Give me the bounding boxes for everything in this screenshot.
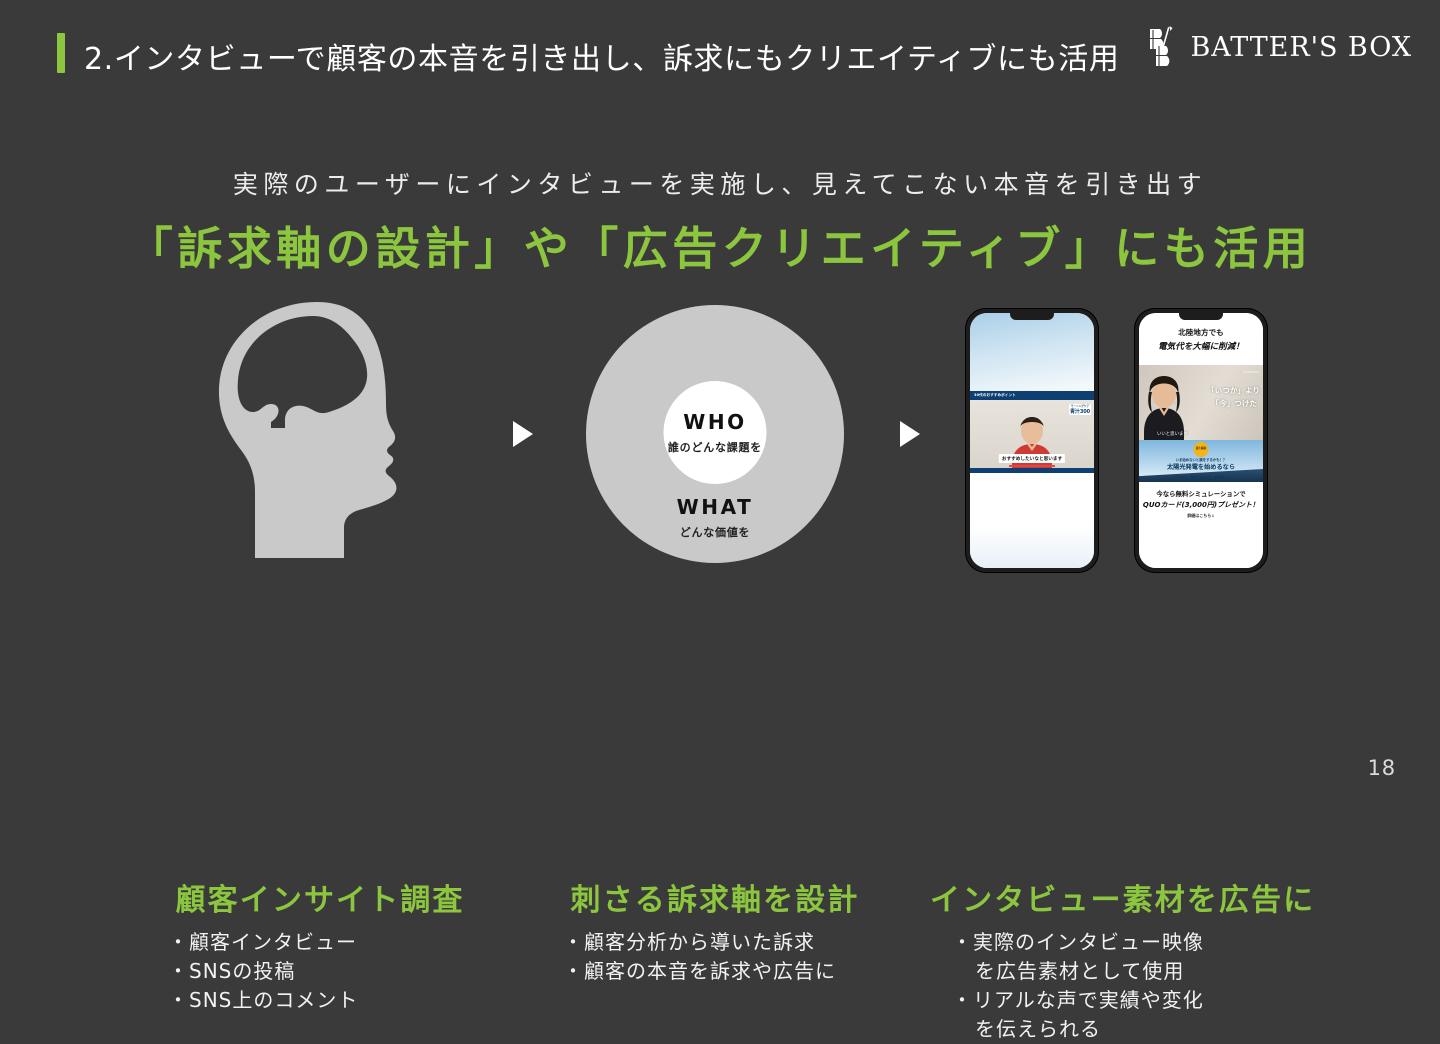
phone-mockup-interview-video: 30代のおすすめポイント モーニングケア 青汁300 おすすめしたいなと思います [965, 308, 1099, 573]
bullet-line-cont: を伝えられる [952, 1015, 1332, 1044]
list-item: ・SNS上のコメント [168, 986, 508, 1015]
phone1-person-image [1009, 414, 1055, 472]
column-customer-insight: 顧客インサイト調査 ・顧客インタビュー ・SNSの投稿 ・SNS上のコメント [150, 300, 490, 565]
what-label: WHAT [677, 495, 754, 519]
phone2-video-frame: HOKURIKU 「いつか」より 「今」つけた いいと思います [1139, 365, 1263, 440]
phone2-cta-block: 今なら無料シミュレーションで QUOカード(3,000円)プレゼント！ 詳細はこ… [1139, 482, 1263, 568]
lead-line-2: 「訴求軸の設計」や「広告クリエイティブ」にも活用 [0, 212, 1440, 277]
brand-logo-text: BATTER'S BOX [1191, 32, 1413, 63]
column3-bullet-list: ・実際のインタビュー映像 を広告素材として使用 ・リアルな声で実績や変化 を伝え… [952, 928, 1332, 1044]
phone1-subtitle-caption: おすすめしたいなと思います [999, 454, 1065, 463]
column1-heading: 顧客インサイト調査 [150, 875, 490, 919]
bullet-line: ・リアルな声で実績や変化 [952, 988, 1204, 1012]
phone2-cta-line-1: 今なら無料シミュレーションで [1156, 489, 1245, 498]
phone1-sky-background [970, 313, 1094, 401]
who-label: WHO [683, 410, 747, 434]
column2-heading: 刺さる訴求軸を設計 [545, 875, 885, 919]
bb-monogram-icon [1147, 26, 1181, 68]
phone2-notch [1179, 313, 1223, 320]
who-sublabel: 誰のどんな課題を [668, 439, 762, 455]
page-number: 18 [1368, 756, 1396, 780]
list-item: ・顧客分析から導いた訴求 [563, 928, 903, 957]
bullet-line: ・顧客インタビュー [168, 930, 357, 954]
phone1-video-frame: モーニングケア 青汁300 おすすめしたいなと思います [970, 400, 1094, 472]
play-triangle-icon [513, 421, 533, 447]
phone1-logo-bottom: 青汁300 [1070, 408, 1090, 415]
column2-visual: WHO 誰のどんな課題を WHAT どんな価値を [545, 300, 885, 565]
phone2-screen: 北陸地方でも 電気代を大幅に削減！ HOKURIKU 「いつか」より 「今」つけ… [1139, 313, 1263, 568]
list-item: ・顧客インタビュー [168, 928, 508, 957]
bullet-line-cont: を広告素材として使用 [952, 957, 1332, 986]
phone1-caption-underline [1009, 465, 1055, 468]
column1-visual [150, 300, 490, 565]
phone2-overlay-text-1: 「いつか」より [1207, 385, 1260, 396]
phone1-notch [1010, 313, 1054, 320]
list-item: ・SNSの投稿 [168, 957, 508, 986]
lead-line-1: 実際のユーザーにインタビューを実施し、見えてこない本音を引き出す [0, 165, 1440, 201]
who-what-circle: WHO 誰のどんな課題を WHAT どんな価値を [586, 305, 844, 563]
phone2-headline-2: 電気代を大幅に削減！ [1158, 340, 1244, 352]
what-sublabel: どんな価値を [677, 524, 754, 540]
bullet-line: ・顧客分析から導いた訴求 [563, 930, 815, 954]
phone2-badge: 最大補助 [1194, 442, 1209, 457]
list-item: ・リアルな声で実績や変化 を伝えられる [952, 986, 1332, 1044]
phone2-person-image [1142, 372, 1186, 440]
brand-logo: BATTER'S BOX [1147, 26, 1413, 68]
slide-header: 2.インタビューで顧客の本音を引き出し、訴求にもクリエイティブにも活用 BATT… [0, 0, 1440, 100]
list-item: ・実際のインタビュー映像 を広告素材として使用 [952, 928, 1332, 986]
slide-root: 2.インタビューで顧客の本音を引き出し、訴求にもクリエイティブにも活用 BATT… [0, 0, 1440, 810]
head-brain-icon [205, 300, 435, 562]
what-block: WHAT どんな価値を [677, 495, 754, 540]
phone2-cta-line-2: QUOカード(3,000円)プレゼント！ [1143, 500, 1259, 510]
bullet-line: ・SNSの投稿 [168, 959, 295, 983]
phone2-cta-line-3: 詳細はこちら↓ [1187, 513, 1214, 519]
column2-bullet-list: ・顧客分析から導いた訴求 ・顧客の本音を訴求や広告に [563, 928, 903, 986]
bullet-line: ・実際のインタビュー映像 [952, 930, 1204, 954]
phone1-title-band: 30代のおすすめポイント [970, 391, 1094, 400]
column1-bullet-list: ・顧客インタビュー ・SNSの投稿 ・SNS上のコメント [168, 928, 508, 1015]
who-inner-circle: WHO 誰のどんな課題を [664, 381, 767, 484]
phone1-screen: 30代のおすすめポイント モーニングケア 青汁300 おすすめしたいなと思います [970, 313, 1094, 568]
phone2-brand-watermark: HOKURIKU [1243, 370, 1259, 374]
header-accent-bar [57, 33, 65, 73]
phone2-banner-image: 最大補助 いま始めないと損をするかも！？ 太陽光発電を始めるなら \ 今なら、最… [1139, 440, 1263, 482]
page-title: 2.インタビューで顧客の本音を引き出し、訴求にもクリエイティブにも活用 [84, 34, 1119, 78]
list-item: ・顧客の本音を訴求や広告に [563, 957, 903, 986]
bullet-line: ・SNS上のコメント [168, 988, 358, 1012]
phone2-banner-text-2: 太陽光発電を始めるなら [1167, 462, 1235, 471]
column-message-design: WHO 誰のどんな課題を WHAT どんな価値を 刺さる訴求軸を設計 ・顧客分析… [545, 300, 885, 565]
bullet-line: ・顧客の本音を訴求や広告に [563, 959, 836, 983]
phone-mockup-ad-creative: 北陸地方でも 電気代を大幅に削減！ HOKURIKU 「いつか」より 「今」つけ… [1134, 308, 1268, 573]
phone1-product-logo: モーニングケア 青汁300 [1069, 404, 1091, 415]
phone2-headline-1: 北陸地方でも [1178, 327, 1223, 338]
column3-heading: インタビュー素材を広告に [930, 875, 1310, 919]
phone1-lower-background [970, 473, 1094, 568]
phone2-overlay-text-2: 「今」つけた [1212, 398, 1257, 409]
phone2-headline-block: 北陸地方でも 電気代を大幅に削減！ [1139, 313, 1263, 365]
play-triangle-icon [900, 421, 920, 447]
phone2-video-caption: いいと思います [1157, 431, 1188, 437]
phone2-banner-text-3: \ 今なら、最新キャンペーン実施中 / [1176, 474, 1227, 479]
